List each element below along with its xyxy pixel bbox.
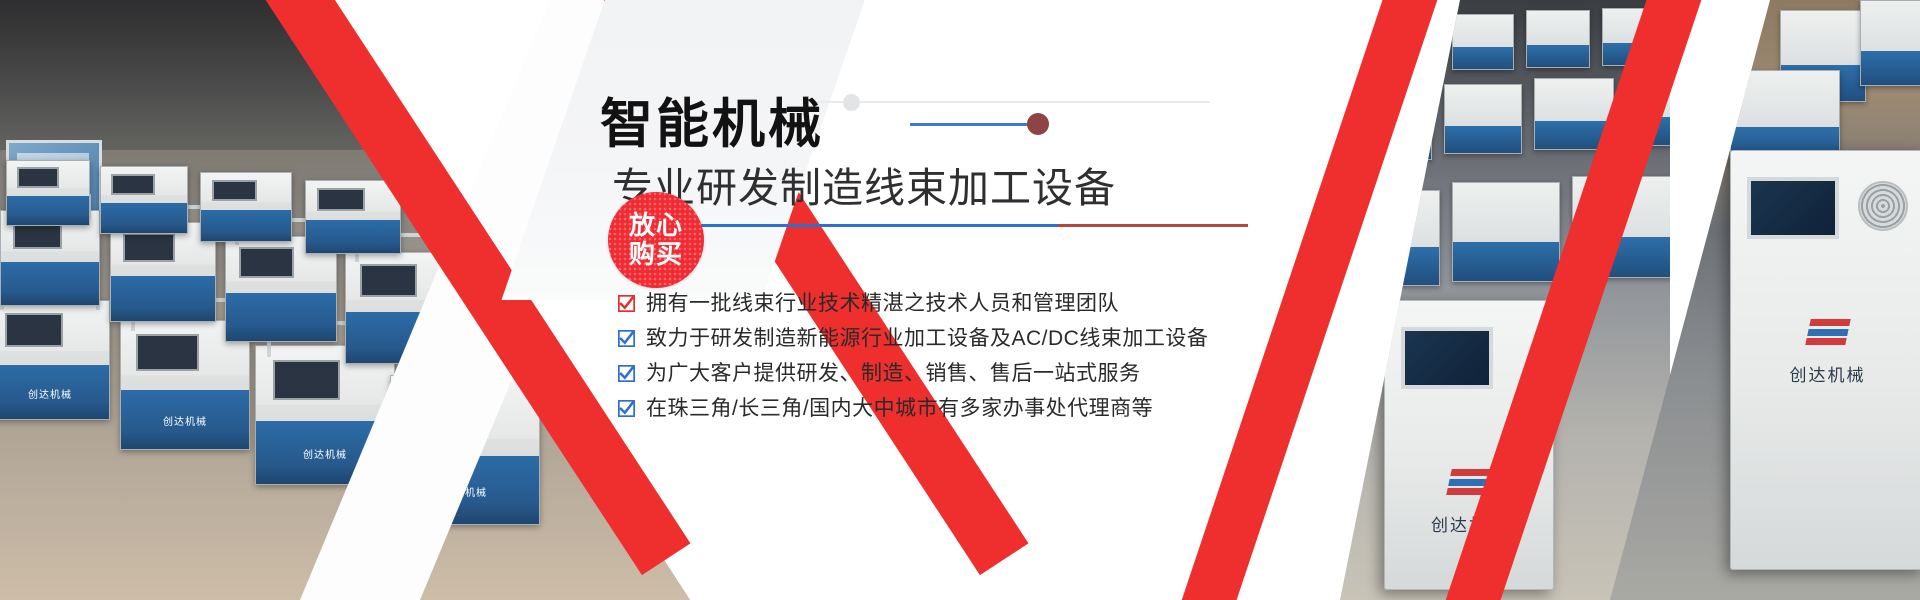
- machine-brand-label: 创达机械: [134, 418, 236, 438]
- divider-red: [1058, 224, 1248, 227]
- machine-unit: [1444, 84, 1522, 154]
- machine-unit: [1452, 182, 1560, 282]
- banner-subtitle: 专业研发制造线束加工设备: [612, 168, 1116, 209]
- machine-unit: [1452, 14, 1514, 70]
- machine-closeup: 创达机械: [1730, 150, 1920, 570]
- check-square-icon: [618, 295, 635, 312]
- machine-unit: 创达机械: [0, 300, 110, 420]
- machine-unit: [1860, 0, 1920, 86]
- brand-mark-icon: [1805, 319, 1851, 345]
- feature-item: 拥有一批线束行业技术精湛之技术人员和管理团队: [618, 286, 1208, 321]
- feature-list: 拥有一批线束行业技术精湛之技术人员和管理团队 致力于研发制造新能源行业加工设备及…: [618, 286, 1208, 426]
- decorative-dot-maroon: [1027, 113, 1049, 135]
- feature-text: 为广大客户提供研发、制造、销售、售后一站式服务: [646, 363, 1141, 384]
- feature-text: 拥有一批线束行业技术精湛之技术人员和管理团队: [646, 293, 1119, 314]
- check-square-icon: [618, 400, 635, 417]
- machine-brand-label: 创达机械: [3, 391, 97, 410]
- decorative-line-gray: [810, 101, 1210, 103]
- machine-brand-label: 创达机械: [1731, 361, 1920, 386]
- feature-item: 在珠三角/长三角/国内大中城市有多家办事处代理商等: [618, 391, 1208, 426]
- feature-text: 致力于研发制造新能源行业加工设备及AC/DC线束加工设备: [646, 328, 1208, 349]
- feature-text: 在珠三角/长三角/国内大中城市有多家办事处代理商等: [646, 398, 1153, 419]
- machine-unit: [305, 180, 401, 254]
- machine-unit: [200, 172, 292, 242]
- machine-screen: [1747, 177, 1839, 239]
- machine-unit: [100, 166, 188, 234]
- banner-content: 智能机械 专业研发制造线束加工设备 放心 购买 拥有一批线束行业技术精湛之技术人…: [600, 0, 1380, 600]
- hero-banner: 创达机械 创达机械 创达机械 创达机械: [0, 0, 1920, 600]
- decorative-line-blue: [910, 123, 1045, 126]
- assurance-badge-line1: 放心: [629, 211, 683, 240]
- banner-title: 智能机械: [600, 98, 824, 151]
- machine-screen: [1401, 327, 1493, 389]
- check-square-icon: [618, 330, 635, 347]
- feature-item: 致力于研发制造新能源行业加工设备及AC/DC线束加工设备: [618, 321, 1208, 356]
- decorative-dot-gray: [843, 94, 860, 111]
- machine-unit: [1526, 10, 1590, 68]
- machine-unit: [6, 160, 90, 226]
- check-square-icon: [618, 365, 635, 382]
- assurance-badge-line2: 购买: [629, 240, 683, 269]
- assurance-badge: 放心 购买: [608, 192, 704, 288]
- machine-vent-icon: [1858, 181, 1908, 231]
- feature-item: 为广大客户提供研发、制造、销售、售后一站式服务: [618, 356, 1208, 391]
